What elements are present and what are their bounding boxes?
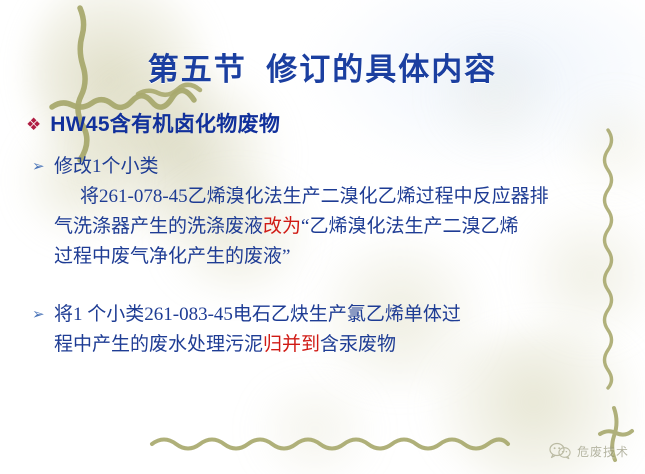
presentation-slide: 第五节 修订的具体内容 ❖ HW45含有机卤化物废物 ➢ 修改1个小类 将261… bbox=[0, 0, 645, 474]
background-blotch bbox=[240, 380, 390, 474]
bullet-lead-line: 修改1个小类 bbox=[54, 152, 549, 182]
wechat-icon bbox=[549, 442, 571, 460]
arrow-bullet-icon: ➢ bbox=[28, 300, 54, 330]
body-text: 将261-078-45乙烯溴化法生产二溴化乙烯过程中反应器排 bbox=[80, 186, 549, 207]
background-blotch bbox=[560, 90, 645, 200]
bullet-row: ➢ 修改1个小类 将261-078-45乙烯溴化法生产二溴化乙烯过程中反应器排 … bbox=[28, 152, 549, 272]
page-title: 第五节 修订的具体内容 bbox=[0, 44, 645, 89]
emphasis-text: 归并到 bbox=[263, 334, 320, 355]
vertical-wavy-line-ornament-icon bbox=[598, 128, 620, 398]
body-text: 气洗涤器产生的洗涤废液 bbox=[54, 216, 263, 237]
section-heading-label: HW45含有机卤化物废物 bbox=[50, 108, 280, 138]
horizontal-wavy-line-ornament-icon bbox=[150, 432, 530, 452]
body-line: 将261-078-45乙烯溴化法生产二溴化乙烯过程中反应器排 bbox=[54, 182, 549, 212]
bullet-block: ➢ 将1 个小类261-083-45电石乙炔生产氯乙烯单体过 程中产生的废水处理… bbox=[28, 300, 461, 360]
section-heading: ❖ HW45含有机卤化物废物 bbox=[26, 108, 280, 138]
body-text: 程中产生的废水处理污泥 bbox=[54, 334, 263, 355]
body-line: 将1 个小类261-083-45电石乙炔生产氯乙烯单体过 bbox=[54, 300, 461, 330]
body-text: 过程中废气净化产生的废液” bbox=[54, 246, 290, 267]
bullet-text-group: 修改1个小类 将261-078-45乙烯溴化法生产二溴化乙烯过程中反应器排 气洗… bbox=[54, 152, 549, 272]
body-line: 过程中废气净化产生的废液” bbox=[54, 242, 549, 272]
body-line: 气洗涤器产生的洗涤废液改为“乙烯溴化法生产二溴乙烯 bbox=[54, 212, 549, 242]
arrow-bullet-icon: ➢ bbox=[28, 152, 54, 182]
bullet-text-group: 将1 个小类261-083-45电石乙炔生产氯乙烯单体过 程中产生的废水处理污泥… bbox=[54, 300, 461, 360]
watermark-label: 危废技术 bbox=[577, 443, 629, 460]
diamond-bullet-icon: ❖ bbox=[26, 116, 41, 133]
body-text: “乙烯溴化法生产二溴乙烯 bbox=[301, 216, 518, 237]
body-line: 程中产生的废水处理污泥归并到含汞废物 bbox=[54, 330, 461, 360]
body-text: 含汞废物 bbox=[320, 334, 396, 355]
body-text: 将1 个小类261-083-45电石乙炔生产氯乙烯单体过 bbox=[54, 304, 461, 325]
bullet-block: ➢ 修改1个小类 将261-078-45乙烯溴化法生产二溴化乙烯过程中反应器排 … bbox=[28, 152, 549, 272]
watermark: 危废技术 bbox=[549, 442, 629, 460]
emphasis-text: 改为 bbox=[263, 216, 301, 237]
bullet-row: ➢ 将1 个小类261-083-45电石乙炔生产氯乙烯单体过 程中产生的废水处理… bbox=[28, 300, 461, 360]
